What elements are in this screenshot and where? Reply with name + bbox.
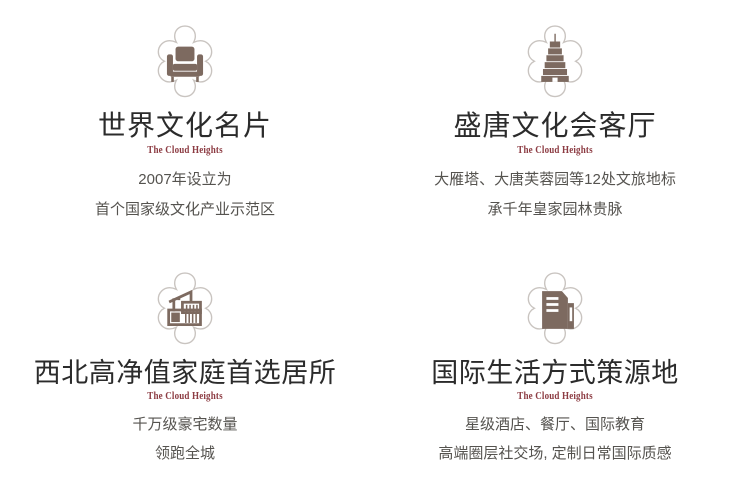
card-body: 2007年设立为 首个国家级文化产业示范区 [95,172,275,218]
pagoda-icon [512,20,598,106]
card-title: 国际生活方式策源地 [431,359,679,389]
card-title: 盛唐文化会客厅 [453,112,656,143]
body-line: 千万级豪宅数量 [132,417,237,433]
brand-subtitle: The Cloud Heights [517,144,592,156]
feature-card-tang-culture[interactable]: 盛唐文化会客厅 The Cloud Heights 大雁塔、大唐芙蓉园等12处文… [370,0,740,247]
body-line: 2007年设立为 [95,172,275,188]
brand-subtitle: The Cloud Heights [147,144,222,156]
card-body: 星级酒店、餐厅、国际教育 高端圈层社交场, 定制日常国际质感 [438,417,671,463]
brand-subtitle: The Cloud Heights [147,390,222,402]
feature-card-international-lifestyle[interactable]: 国际生活方式策源地 The Cloud Heights 星级酒店、餐厅、国际教育… [370,247,740,494]
body-line: 星级酒店、餐厅、国际教育 [438,417,671,433]
feature-card-northwest-residence[interactable]: 西北高净值家庭首选居所 The Cloud Heights 千万级豪宅数量 领跑… [0,247,370,494]
card-body: 大雁塔、大唐芙蓉园等12处文旅地标 承千年皇家园林贵脉 [434,172,676,218]
skyline-icon [512,267,598,353]
card-title: 西北高净值家庭首选居所 [34,359,337,389]
body-line: 领跑全城 [132,446,237,462]
feature-card-world-culture[interactable]: 世界文化名片 The Cloud Heights 2007年设立为 首个国家级文… [0,0,370,247]
feature-grid: 世界文化名片 The Cloud Heights 2007年设立为 首个国家级文… [0,0,740,494]
card-title: 世界文化名片 [98,112,272,143]
body-line: 承千年皇家园林贵脉 [434,202,676,218]
card-body: 千万级豪宅数量 领跑全城 [132,417,237,463]
body-line: 首个国家级文化产业示范区 [95,202,275,218]
body-line: 高端圈层社交场, 定制日常国际质感 [438,446,671,462]
villa-icon [142,267,228,353]
body-line: 大雁塔、大唐芙蓉园等12处文旅地标 [434,172,676,188]
armchair-icon [142,20,228,106]
brand-subtitle: The Cloud Heights [517,390,592,402]
